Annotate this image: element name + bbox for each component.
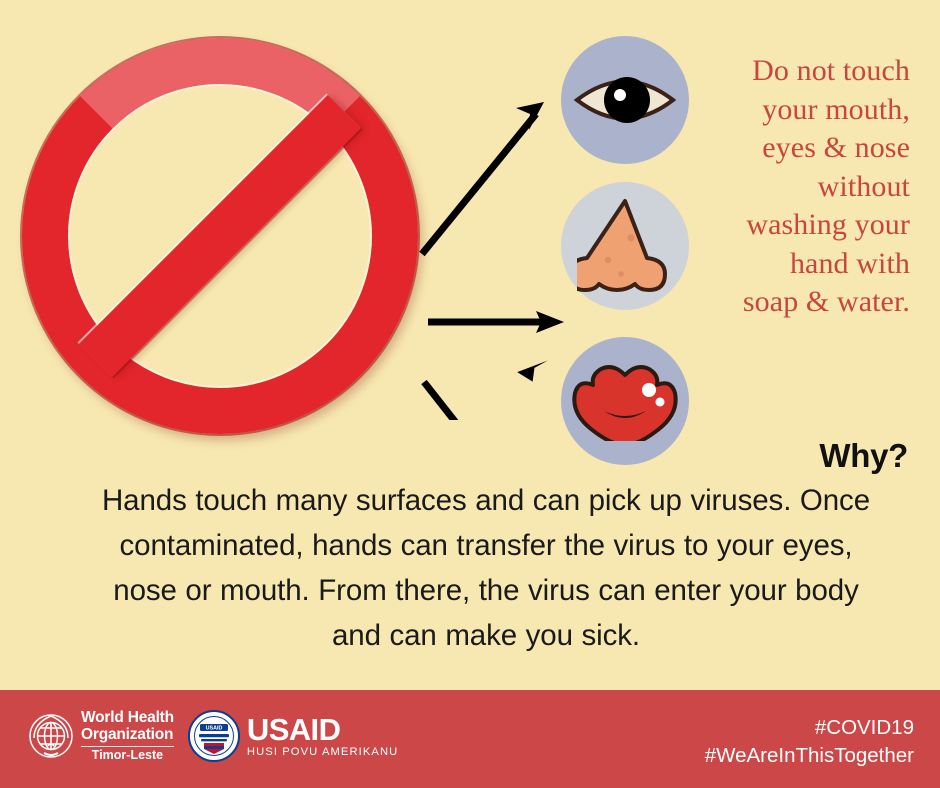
headline-line-1: Do not touch [678, 52, 910, 91]
body-line-1: Hands touch many surfaces and can pick u… [60, 478, 912, 523]
body-line-3: nose or mouth. From there, the virus can… [60, 568, 912, 613]
arrow-to-eye [422, 114, 536, 254]
usaid-name: USAID [247, 714, 398, 745]
usaid-logo: USAID USAID HUSI POVU AMERIKANU [188, 710, 398, 762]
eye-icon [561, 36, 689, 164]
who-line-2: Organization [81, 727, 174, 743]
who-emblem-icon [28, 713, 74, 759]
usaid-wordmark: USAID HUSI POVU AMERIKANU [247, 714, 398, 758]
arrow-to-mouth [424, 382, 534, 420]
usaid-seal-icon: USAID [188, 710, 240, 762]
who-divider [81, 746, 174, 747]
headline-line-5: washing your [678, 206, 910, 245]
body-paragraph: Hands touch many surfaces and can pick u… [60, 478, 912, 658]
headline-line-4: without [678, 168, 910, 207]
svg-text:USAID: USAID [206, 726, 223, 732]
hashtag-covid19: #COVID19 [705, 714, 914, 742]
who-country: Timor-Leste [81, 749, 174, 762]
who-logo: World Health Organization Timor-Leste [28, 710, 174, 761]
headline-line-3: eyes & nose [678, 129, 910, 168]
body-line-4: and can make you sick. [60, 613, 912, 658]
mouth-icon [561, 337, 689, 465]
arrow-group [400, 70, 580, 420]
headline-line-2: your mouth, [678, 91, 910, 130]
usaid-tagline: HUSI POVU AMERIKANU [247, 747, 398, 758]
who-wordmark: World Health Organization Timor-Leste [81, 710, 174, 761]
why-heading: Why? [819, 437, 908, 475]
no-touching-hand-sign [22, 38, 418, 434]
headline-line-7: soap & water. [678, 283, 910, 322]
body-line-2: contaminated, hands can transfer the vir… [60, 523, 912, 568]
who-line-1: World Health [81, 710, 174, 726]
nose-icon [561, 182, 689, 310]
headline-text: Do not touch your mouth, eyes & nose wit… [678, 52, 910, 322]
hashtag-group: #COVID19 #WeAreInThisTogether [705, 714, 914, 770]
headline-line-6: hand with [678, 245, 910, 284]
logo-group: World Health Organization Timor-Leste [28, 710, 398, 762]
poster-canvas: Do not touch your mouth, eyes & nose wit… [0, 0, 940, 788]
footer-bar: World Health Organization Timor-Leste [0, 690, 940, 788]
hashtag-together: #WeAreInThisTogether [705, 742, 914, 770]
